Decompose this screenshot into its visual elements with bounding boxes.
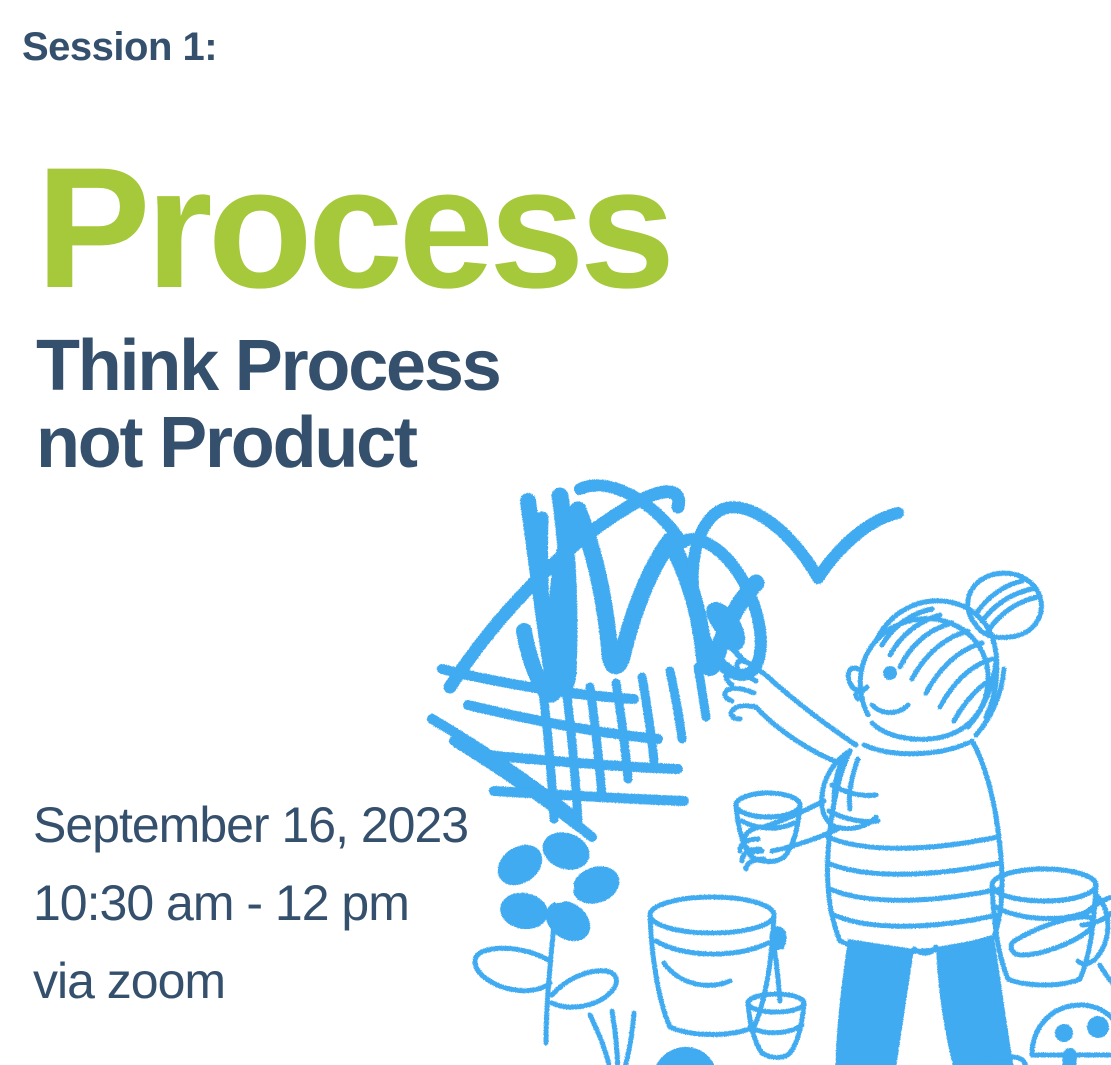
paint-cup xyxy=(736,793,800,862)
sprig xyxy=(1100,929,1111,1023)
subtitle: Think Process not Product xyxy=(36,328,500,482)
paint-scribble xyxy=(450,492,679,688)
hatching-strokes-vertical xyxy=(542,667,706,821)
schedule-date: September 16, 2023 xyxy=(33,800,468,850)
girl-painting-illustration xyxy=(420,455,1111,1065)
mushroom-left xyxy=(652,1047,718,1065)
loop-swirl xyxy=(580,485,898,674)
ground-brush xyxy=(1011,897,1111,955)
poster-canvas: Session 1: Process Think Process not Pro… xyxy=(0,0,1111,1065)
schedule-time: 10:30 am - 12 pm xyxy=(33,878,468,928)
schedule-platform: via zoom xyxy=(33,956,468,1006)
child-jeans xyxy=(836,937,1014,1065)
session-label: Session 1: xyxy=(22,24,217,70)
child-figure xyxy=(848,573,1041,739)
page-title: Process xyxy=(36,142,670,314)
schedule-block: September 16, 2023 10:30 am - 12 pm via … xyxy=(33,800,468,1006)
paint-scribble-body xyxy=(556,496,756,685)
grass-tufts xyxy=(590,1011,1111,1065)
paint-scribble-tail xyxy=(524,501,554,695)
child-arm-up xyxy=(725,661,856,765)
mushroom-right xyxy=(1032,1005,1111,1065)
child-shirt xyxy=(822,741,1002,952)
paint-bucket-right xyxy=(992,869,1108,985)
child-arm-down xyxy=(740,801,838,869)
paint-bucket-left xyxy=(650,897,774,1035)
flower xyxy=(475,826,625,1043)
hatching-strokes xyxy=(432,669,684,837)
paint-brush xyxy=(709,605,744,661)
child-shoes xyxy=(802,1057,1025,1065)
small-paint-jar xyxy=(748,929,804,1058)
illustration-svg xyxy=(420,455,1111,1065)
